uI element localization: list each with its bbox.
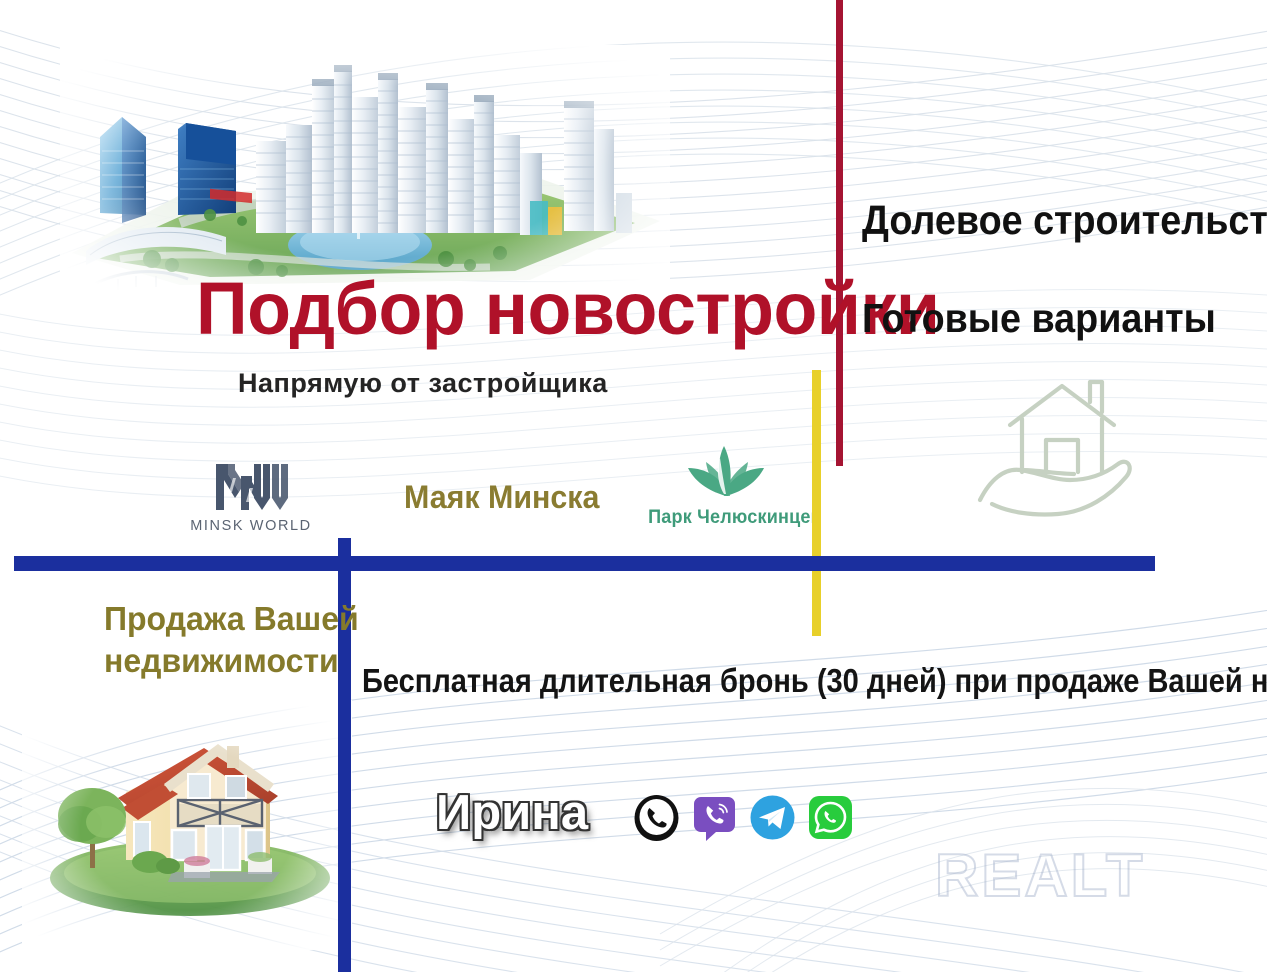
developer-logo-label: MINSK WORLD: [186, 518, 316, 534]
developer-logo-label: Парк Челюскинцев: [648, 507, 804, 529]
leaf-icon: [644, 440, 808, 504]
contact-icons-row: [632, 793, 855, 842]
viber-icon[interactable]: [690, 793, 739, 842]
agent-name: Ирина: [436, 789, 588, 838]
page-subtitle: Напрямую от застройщика: [238, 370, 608, 397]
divider-yellow-vertical: [812, 370, 821, 636]
developer-logo-mayak-minska: Маяк Минска: [404, 481, 599, 513]
poster-canvas: Подбор новостройки Напрямую от застройщи…: [0, 0, 1267, 972]
cottage-house-illustration: [22, 700, 352, 950]
sale-your-property-label: Продажа Вашей недвижимости: [104, 598, 359, 682]
claim-shared-construction: Долевое строительство: [862, 200, 1267, 241]
divider-crimson-vertical: [836, 0, 843, 466]
house-in-hand-icon: [962, 372, 1172, 527]
whatsapp-icon[interactable]: [806, 793, 855, 842]
page-title: Подбор новостройки: [196, 272, 940, 346]
city-skyline-illustration: [60, 45, 670, 300]
phone-icon[interactable]: [632, 793, 681, 842]
developer-logo-minsk-world: MINSK WORLD: [186, 458, 316, 548]
offer-text: Бесплатная длительная бронь (30 дней) пр…: [362, 664, 1267, 697]
divider-blue-horizontal: [14, 556, 1155, 571]
claim-ready-options: Готовые варианты: [862, 298, 1216, 339]
mw-monogram-icon: [186, 458, 316, 516]
sale-line-2: недвижимости: [104, 640, 359, 682]
telegram-icon[interactable]: [748, 793, 797, 842]
sale-line-1: Продажа Вашей: [104, 600, 359, 637]
realt-watermark: REALT: [935, 841, 1146, 910]
developer-logo-park-chelyuskintsev: Парк Челюскинцев: [644, 440, 808, 529]
